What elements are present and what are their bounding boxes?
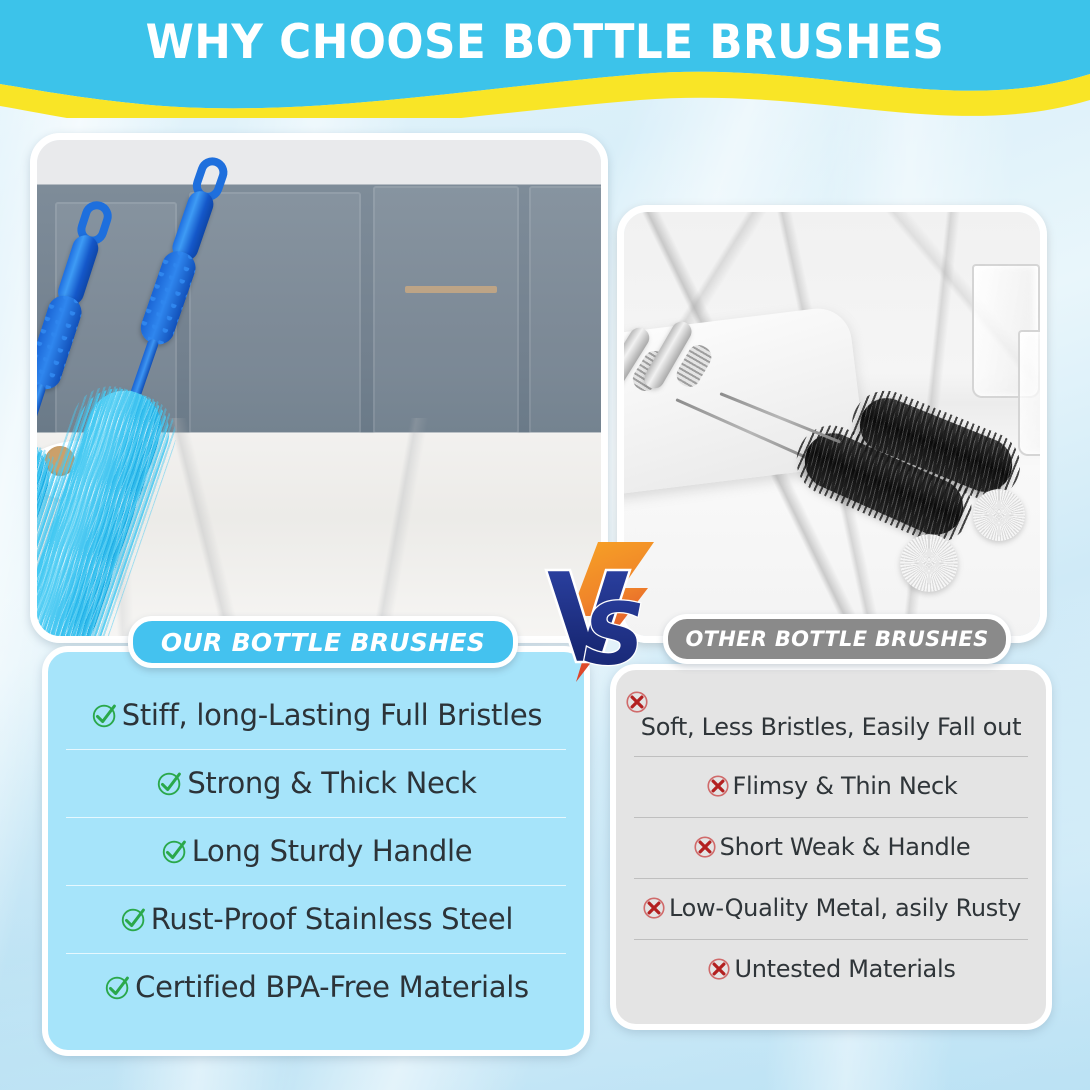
vs-letter-s: S bbox=[583, 585, 645, 685]
check-circle-icon bbox=[119, 904, 149, 934]
cabinet-panel bbox=[189, 192, 361, 434]
x-circle-icon bbox=[705, 773, 731, 799]
list-item-label: Short Weak & Handle bbox=[720, 833, 971, 861]
list-item-label: Stiff, long-Lasting Full Bristles bbox=[122, 698, 542, 732]
list-item-label: Low-Quality Metal, asily Rusty bbox=[669, 894, 1021, 922]
x-circle-icon bbox=[692, 834, 718, 860]
x-circle-icon bbox=[706, 956, 732, 982]
list-item: Certified BPA-Free Materials bbox=[48, 953, 584, 1021]
list-item: Rust-Proof Stainless Steel bbox=[48, 885, 584, 953]
our-brushes-badge-label: OUR BOTTLE BRUSHES bbox=[161, 628, 485, 657]
our-brushes-photo bbox=[30, 133, 608, 643]
list-item: Stiff, long-Lasting Full Bristles bbox=[48, 681, 584, 749]
drinking-glass bbox=[1018, 330, 1047, 456]
list-item-label: Rust-Proof Stainless Steel bbox=[151, 902, 513, 936]
list-item: Soft, Less Bristles, Easily Fall out bbox=[616, 695, 1046, 756]
list-item: Flimsy & Thin Neck bbox=[616, 756, 1046, 817]
check-circle-icon bbox=[155, 768, 185, 798]
header-banner: WHY CHOOSE BOTTLE BRUSHES bbox=[0, 0, 1090, 118]
list-item-label: Untested Materials bbox=[734, 955, 955, 983]
list-item: Untested Materials bbox=[616, 939, 1046, 1000]
brush-end-tuft bbox=[973, 489, 1025, 541]
other-brushes-feature-list: Soft, Less Bristles, Easily Fall out Fli… bbox=[616, 670, 1046, 1024]
x-circle-icon bbox=[624, 689, 650, 715]
x-circle-icon bbox=[641, 895, 667, 921]
list-item-label: Strong & Thick Neck bbox=[187, 766, 476, 800]
other-brushes-photo bbox=[617, 205, 1047, 643]
cabinet-handle bbox=[405, 286, 497, 293]
check-circle-icon bbox=[103, 972, 133, 1002]
page-title: WHY CHOOSE BOTTLE BRUSHES bbox=[38, 0, 1052, 86]
our-brushes-badge: OUR BOTTLE BRUSHES bbox=[128, 616, 518, 668]
list-item-label: Long Sturdy Handle bbox=[192, 834, 473, 868]
list-item-label: Certified BPA-Free Materials bbox=[135, 970, 529, 1004]
our-brushes-feature-panel: Stiff, long-Lasting Full Bristles Strong… bbox=[42, 646, 590, 1056]
cabinet-panel bbox=[373, 186, 519, 434]
list-item: Short Weak & Handle bbox=[616, 817, 1046, 878]
other-brushes-badge-label: OTHER BOTTLE BRUSHES bbox=[685, 627, 988, 651]
list-item: Low-Quality Metal, asily Rusty bbox=[616, 878, 1046, 939]
list-item-label: Flimsy & Thin Neck bbox=[733, 772, 958, 800]
list-item: Long Sturdy Handle bbox=[48, 817, 584, 885]
list-item-label: Soft, Less Bristles, Easily Fall out bbox=[641, 713, 1021, 741]
infographic-page: WHY CHOOSE BOTTLE BRUSHES bbox=[0, 0, 1090, 1090]
cabinet-panel bbox=[529, 186, 608, 434]
vs-badge-graphic: S bbox=[536, 536, 668, 686]
vs-badge: S bbox=[536, 536, 668, 686]
brush-end-tuft bbox=[900, 534, 957, 591]
list-item: Strong & Thick Neck bbox=[48, 749, 584, 817]
other-brushes-badge: OTHER BOTTLE BRUSHES bbox=[663, 614, 1011, 664]
other-brushes-feature-panel: Soft, Less Bristles, Easily Fall out Fli… bbox=[610, 664, 1052, 1030]
our-brushes-feature-list: Stiff, long-Lasting Full Bristles Strong… bbox=[48, 652, 584, 1050]
check-circle-icon bbox=[160, 836, 190, 866]
check-circle-icon bbox=[90, 700, 120, 730]
